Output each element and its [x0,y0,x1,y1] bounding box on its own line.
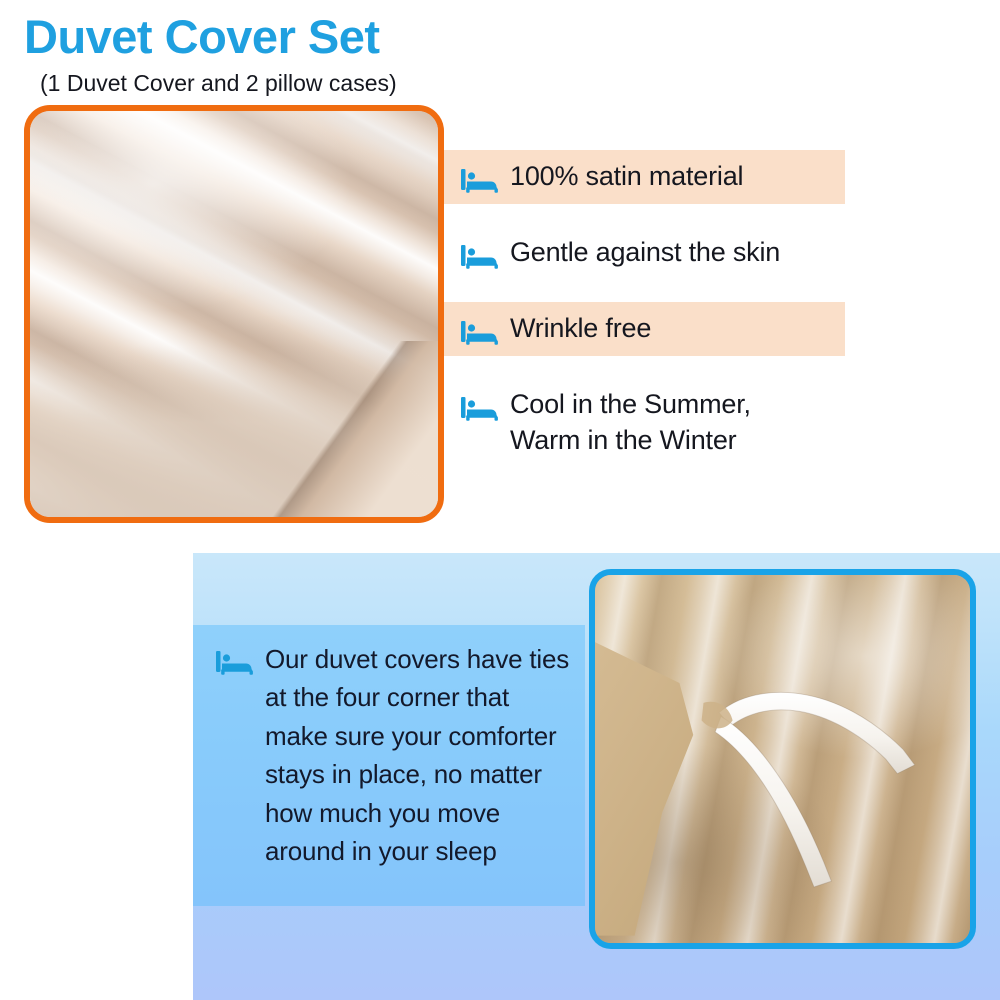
product-infographic: Duvet Cover Set (1 Duvet Cover and 2 pil… [0,0,1000,1000]
bed-icon [460,392,500,422]
feature-item-temperature: Cool in the Summer, Warm in the Winter [444,378,1000,468]
page-subtitle: (1 Duvet Cover and 2 pillow cases) [40,70,680,98]
feature-item-gentle-skin: Gentle against the skin [444,226,1000,280]
feature-label: Wrinkle free [510,311,651,347]
bed-icon [460,240,500,270]
feature-label: Cool in the Summer, Warm in the Winter [510,387,751,459]
satin-fabric-photo [24,105,444,523]
bottom-description-text: Our duvet covers have ties at the four c… [265,640,575,871]
page-title: Duvet Cover Set [24,12,644,63]
duvet-ties-photo [589,569,976,949]
feature-label: Gentle against the skin [510,235,780,271]
bed-icon [460,316,500,346]
bed-icon [460,164,500,194]
satin-fold-corner [238,341,444,523]
feature-label: 100% satin material [510,159,743,195]
feature-list: 100% satin material Gentle against the s… [444,150,1000,490]
bed-icon [215,646,255,676]
ribbon-ties [595,575,970,943]
bottom-description: Our duvet covers have ties at the four c… [215,640,585,871]
feature-item-satin-material: 100% satin material [444,150,845,204]
feature-item-wrinkle-free: Wrinkle free [444,302,845,356]
